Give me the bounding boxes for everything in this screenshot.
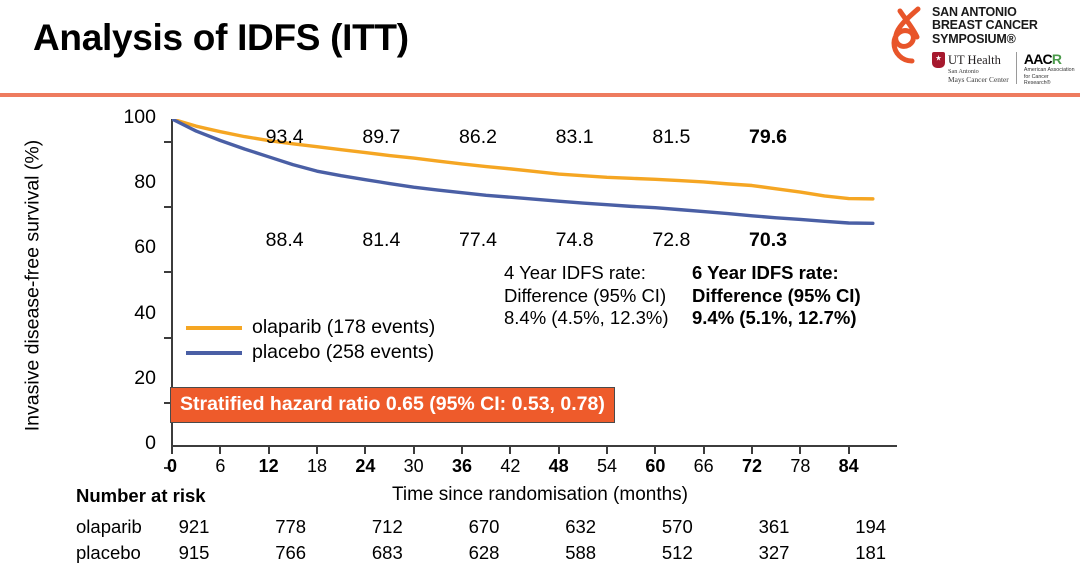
risk-cell-placebo-48mo: 588 bbox=[546, 542, 616, 564]
annotation-6yr-line1: 6 Year IDFS rate: bbox=[692, 262, 861, 285]
legend-label-placebo: placebo (258 events) bbox=[252, 340, 434, 365]
risk-cell-olaparib-72mo: 361 bbox=[739, 516, 809, 538]
y-tick-mark-40 bbox=[164, 337, 171, 339]
annotation-6yr-line3: 9.4% (5.1%, 12.7%) bbox=[692, 307, 861, 330]
value-label-olaparib-12mo: 93.4 bbox=[250, 126, 320, 149]
risk-cell-olaparib-48mo: 632 bbox=[546, 516, 616, 538]
x-tick-label-72: 72 bbox=[732, 456, 772, 477]
risk-row-label-placebo: placebo bbox=[76, 542, 141, 564]
ut-health-logo: UT Health San Antonio Mays Cancer Center bbox=[932, 52, 1017, 84]
aacr-logo: AACR American Association for Cancer Res… bbox=[1017, 52, 1076, 87]
risk-cell-placebo-60mo: 512 bbox=[642, 542, 712, 564]
x-tick-label-30: 30 bbox=[394, 456, 434, 477]
annotation-4yr-line3: 8.4% (4.5%, 12.3%) bbox=[504, 307, 669, 330]
y-tick-mark-80 bbox=[164, 206, 171, 208]
page-title: Analysis of IDFS (ITT) bbox=[33, 17, 409, 59]
legend-swatch-placebo bbox=[186, 351, 242, 355]
y-tick-mark-100 bbox=[164, 141, 171, 143]
x-tick-mark-0 bbox=[171, 447, 173, 454]
risk-table-heading: Number at risk bbox=[76, 485, 206, 507]
aacr-aac: AAC bbox=[1024, 51, 1052, 67]
x-tick-mark-30 bbox=[413, 447, 415, 454]
legend-swatch-olaparib bbox=[186, 326, 242, 330]
x-tick-mark-42 bbox=[509, 447, 511, 454]
y-tick-label-0: 0 bbox=[110, 432, 156, 455]
x-tick-mark-36 bbox=[461, 447, 463, 454]
risk-cell-olaparib-24mo: 712 bbox=[352, 516, 422, 538]
y-tick-label-80: 80 bbox=[110, 171, 156, 194]
risk-cell-placebo-0mo: 915 bbox=[159, 542, 229, 564]
kaplan-meier-chart: Invasive disease-free survival (%) 02040… bbox=[0, 96, 1080, 572]
annotation-6-year-idfs: 6 Year IDFS rate: Difference (95% CI) 9.… bbox=[692, 262, 861, 330]
value-label-placebo-60mo: 72.8 bbox=[636, 229, 706, 252]
value-label-olaparib-24mo: 89.7 bbox=[346, 126, 416, 149]
risk-cell-placebo-36mo: 628 bbox=[449, 542, 519, 564]
legend-item-placebo: placebo (258 events) bbox=[186, 340, 435, 365]
ut-shield-icon bbox=[932, 52, 945, 68]
value-label-placebo-72mo: 70.3 bbox=[733, 229, 803, 252]
partner-logos: UT Health San Antonio Mays Cancer Center… bbox=[932, 52, 1076, 88]
risk-cell-olaparib-36mo: 670 bbox=[449, 516, 519, 538]
x-tick-mark-78 bbox=[799, 447, 801, 454]
sabcs-wordmark-line1: SAN ANTONIO bbox=[932, 6, 1076, 19]
x-tick-label-24: 24 bbox=[345, 456, 385, 477]
annotation-4yr-line2: Difference (95% CI) bbox=[504, 285, 669, 308]
risk-cell-placebo-12mo: 766 bbox=[256, 542, 326, 564]
risk-cell-placebo-84mo: 181 bbox=[836, 542, 906, 564]
aacr-r: R bbox=[1052, 51, 1061, 67]
x-tick-label-48: 48 bbox=[539, 456, 579, 477]
x-tick-mark-72 bbox=[751, 447, 753, 454]
x-tick-mark-84 bbox=[848, 447, 850, 454]
sabcs-wordmark-line2: BREAST CANCER bbox=[932, 19, 1076, 32]
x-tick-mark-24 bbox=[364, 447, 366, 454]
sabcs-wordmark-line3: SYMPOSIUM® bbox=[932, 33, 1076, 46]
aacr-wordmark: AACR bbox=[1024, 52, 1076, 67]
x-tick-mark-18 bbox=[316, 447, 318, 454]
x-tick-label-60: 60 bbox=[635, 456, 675, 477]
ut-health-row: UT Health bbox=[932, 52, 1011, 68]
value-label-placebo-12mo: 88.4 bbox=[250, 229, 320, 252]
ut-health-center: Mays Cancer Center bbox=[948, 76, 1011, 84]
y-tick-mark-60 bbox=[164, 271, 171, 273]
sabcs-wordmark: SAN ANTONIO BREAST CANCER SYMPOSIUM® bbox=[932, 6, 1076, 46]
risk-cell-olaparib-12mo: 778 bbox=[256, 516, 326, 538]
x-tick-label-66: 66 bbox=[684, 456, 724, 477]
x-tick-mark-60 bbox=[654, 447, 656, 454]
value-label-placebo-48mo: 74.8 bbox=[540, 229, 610, 252]
value-label-placebo-36mo: 77.4 bbox=[443, 229, 513, 252]
x-tick-mark-66 bbox=[703, 447, 705, 454]
x-axis-title: Time since randomisation (months) bbox=[280, 484, 800, 506]
x-tick-label-0: 0 bbox=[152, 456, 192, 477]
value-label-olaparib-48mo: 83.1 bbox=[540, 126, 610, 149]
x-tick-label-78: 78 bbox=[780, 456, 820, 477]
x-tick-label-6: 6 bbox=[200, 456, 240, 477]
legend-label-olaparib: olaparib (178 events) bbox=[252, 315, 435, 340]
risk-cell-olaparib-0mo: 921 bbox=[159, 516, 229, 538]
risk-cell-olaparib-84mo: 194 bbox=[836, 516, 906, 538]
x-tick-mark-54 bbox=[606, 447, 608, 454]
annotation-4yr-line1: 4 Year IDFS rate: bbox=[504, 262, 669, 285]
value-label-olaparib-60mo: 81.5 bbox=[636, 126, 706, 149]
annotation-4-year-idfs: 4 Year IDFS rate: Difference (95% CI) 8.… bbox=[504, 262, 669, 330]
value-label-olaparib-36mo: 86.2 bbox=[443, 126, 513, 149]
y-tick-label-60: 60 bbox=[110, 236, 156, 259]
y-tick-label-100: 100 bbox=[110, 106, 156, 129]
x-tick-label-54: 54 bbox=[587, 456, 627, 477]
x-tick-label-36: 36 bbox=[442, 456, 482, 477]
x-tick-mark-12 bbox=[268, 447, 270, 454]
x-tick-mark-6 bbox=[219, 447, 221, 454]
x-tick-label-42: 42 bbox=[490, 456, 530, 477]
x-tick-mark-48 bbox=[558, 447, 560, 454]
aacr-tagline-1: American Association bbox=[1024, 67, 1076, 74]
aacr-tagline-2: for Cancer Research® bbox=[1024, 74, 1076, 87]
value-label-olaparib-72mo: 79.6 bbox=[733, 126, 803, 149]
y-axis-title: Invasive disease-free survival (%) bbox=[22, 106, 45, 466]
chart-legend: olaparib (178 events) placebo (258 event… bbox=[186, 315, 435, 365]
risk-cell-placebo-72mo: 327 bbox=[739, 542, 809, 564]
risk-cell-placebo-24mo: 683 bbox=[352, 542, 422, 564]
hazard-ratio-banner: Stratified hazard ratio 0.65 (95% CI: 0.… bbox=[170, 387, 615, 423]
ut-health-name: UT Health bbox=[948, 54, 1001, 67]
conference-logo: SAN ANTONIO BREAST CANCER SYMPOSIUM® UT … bbox=[888, 4, 1076, 88]
risk-cell-olaparib-60mo: 570 bbox=[642, 516, 712, 538]
annotation-6yr-line2: Difference (95% CI) bbox=[692, 285, 861, 308]
value-label-placebo-24mo: 81.4 bbox=[346, 229, 416, 252]
legend-item-olaparib: olaparib (178 events) bbox=[186, 315, 435, 340]
x-tick-label-12: 12 bbox=[249, 456, 289, 477]
risk-row-label-olaparib: olaparib bbox=[76, 516, 142, 538]
x-tick-label-84: 84 bbox=[829, 456, 869, 477]
sabcs-ribbon-icon bbox=[888, 6, 928, 64]
y-tick-label-40: 40 bbox=[110, 302, 156, 325]
x-tick-label-18: 18 bbox=[297, 456, 337, 477]
y-tick-label-20: 20 bbox=[110, 367, 156, 390]
slide-header: Analysis of IDFS (ITT) SAN ANTONIO BREAS… bbox=[0, 0, 1080, 96]
